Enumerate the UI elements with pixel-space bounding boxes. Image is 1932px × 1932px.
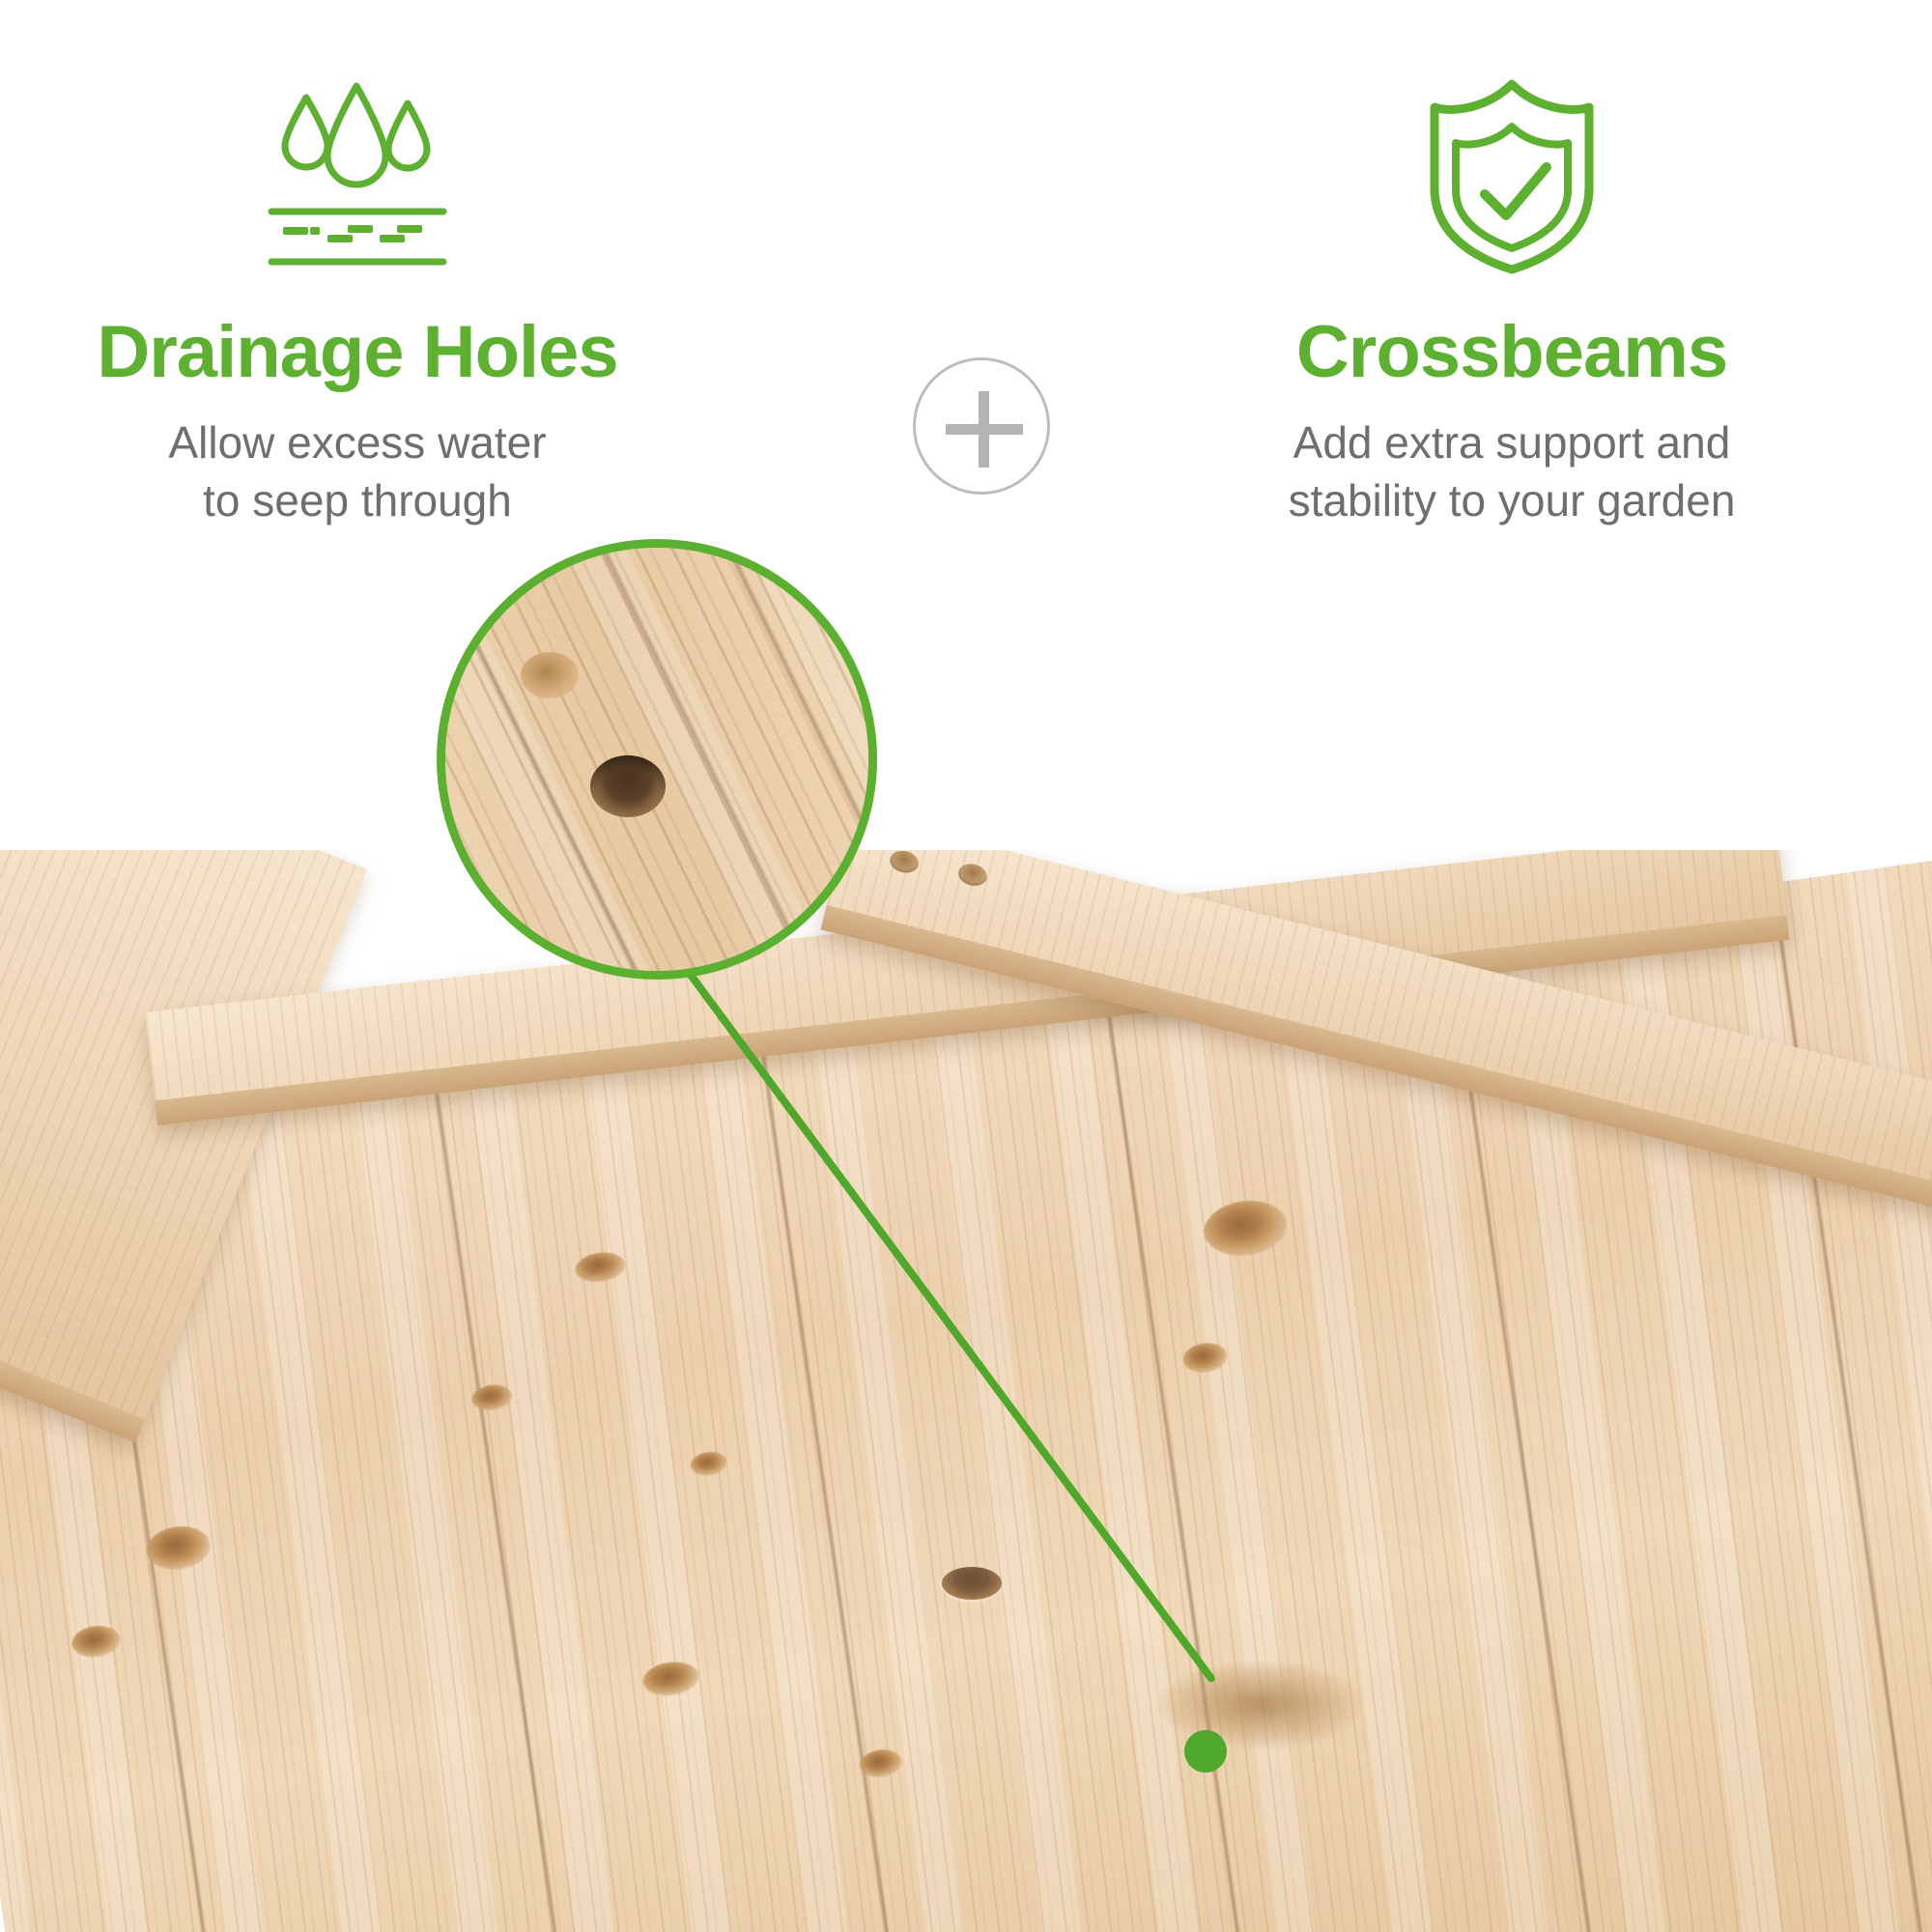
- drainage-hole-closeup: [590, 755, 666, 817]
- feature-title: Crossbeams: [1111, 316, 1913, 389]
- feature-subtitle-line1: Allow excess water: [39, 414, 676, 472]
- magnifier-detail-circle: [437, 539, 877, 980]
- feature-subtitle: Add extra support and stability to your …: [1111, 414, 1913, 530]
- feature-subtitle-line2: to seep through: [39, 472, 676, 530]
- plus-icon: [913, 357, 1050, 495]
- feature-title: Drainage Holes: [39, 316, 676, 389]
- drainage-hole-photo: [942, 1567, 1002, 1600]
- feature-subtitle-line1: Add extra support and: [1111, 414, 1913, 472]
- callout-endpoint-dot: [1184, 1730, 1227, 1773]
- feature-subtitle: Allow excess water to seep through: [39, 414, 676, 530]
- feature-drainage-holes: Drainage Holes Allow excess water to see…: [39, 68, 676, 530]
- water-drops-drainage-icon: [39, 68, 676, 275]
- wood-knot: [521, 652, 579, 698]
- feature-crossbeams: Crossbeams Add extra support and stabili…: [1111, 68, 1913, 530]
- product-photo: [0, 850, 1932, 1932]
- feature-subtitle-line2: stability to your garden: [1111, 472, 1913, 530]
- shield-check-icon: [1111, 68, 1913, 275]
- infographic-root: Drainage Holes Allow excess water to see…: [0, 0, 1932, 1932]
